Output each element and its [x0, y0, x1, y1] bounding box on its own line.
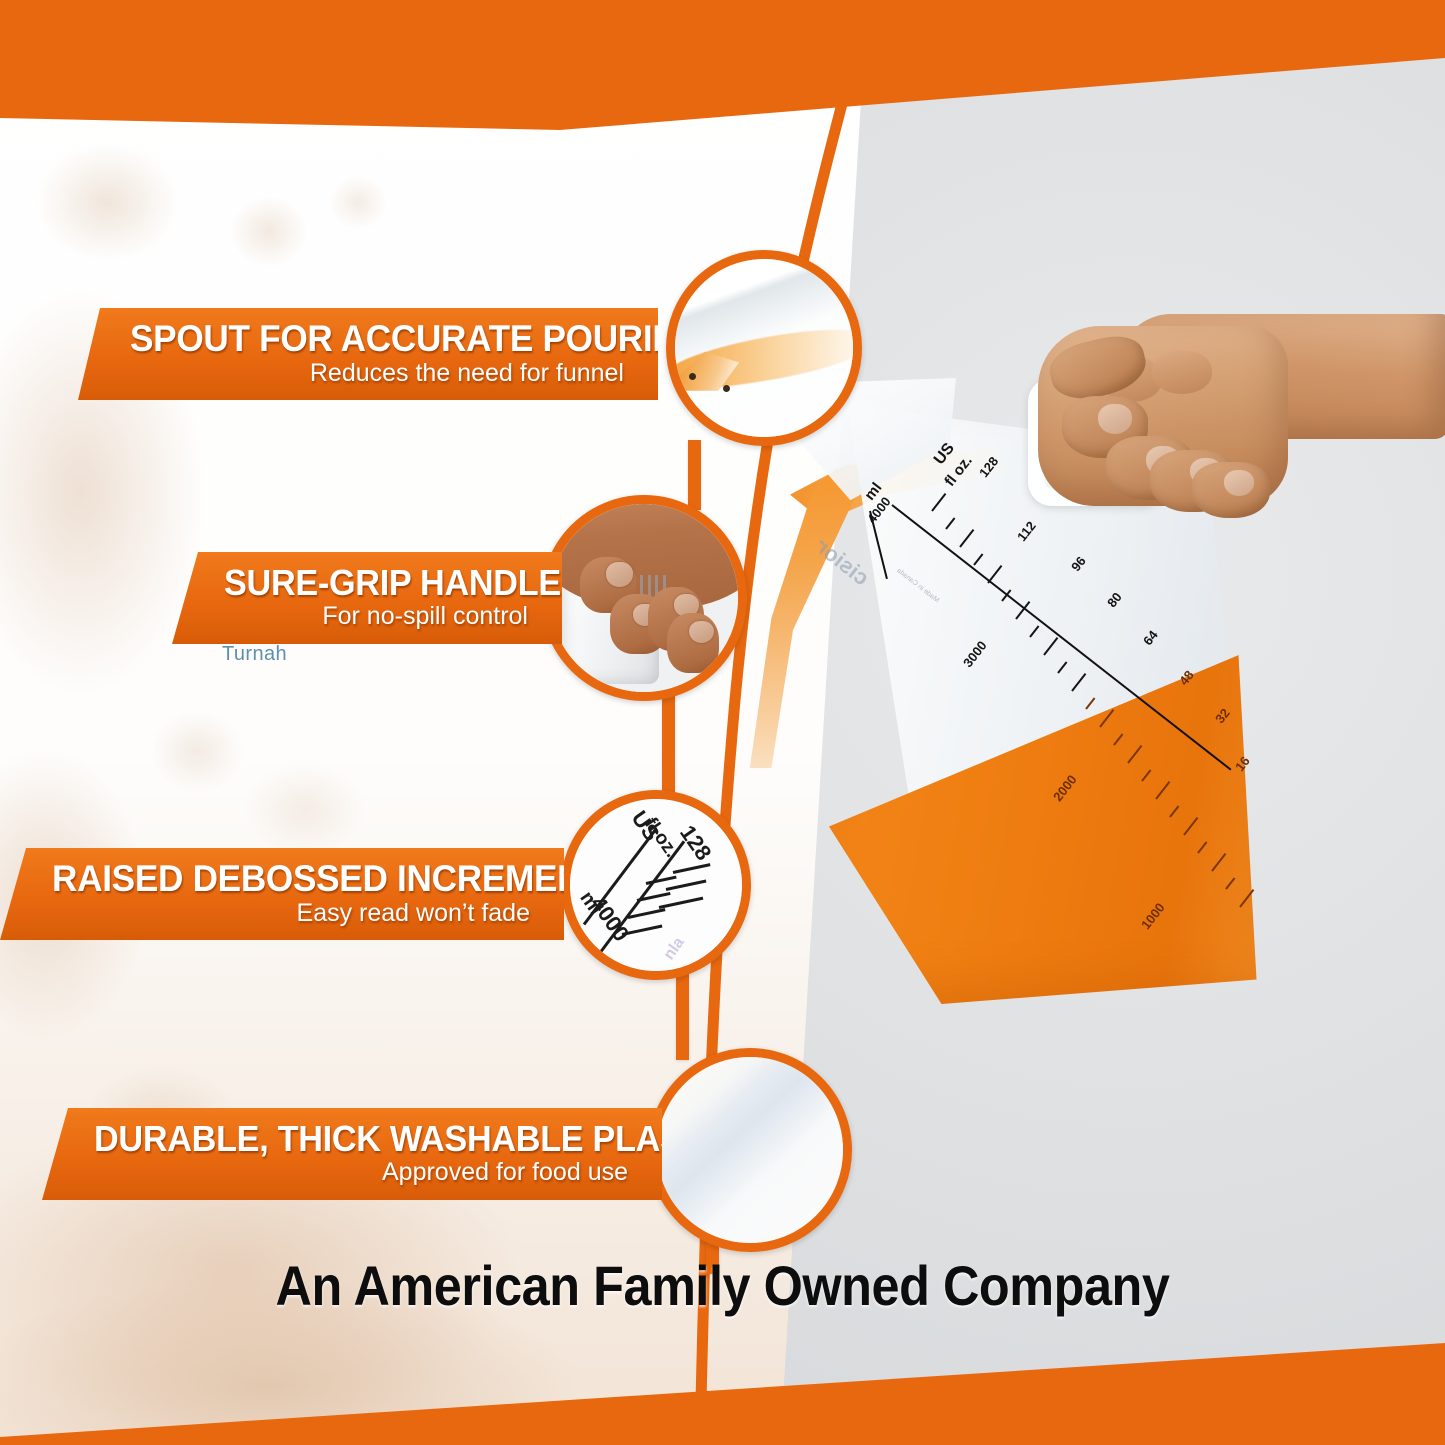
scale-tick-group [1169, 805, 1179, 817]
knuckle-2 [1152, 350, 1212, 394]
connector-2-3 [662, 690, 675, 802]
scale-value-32: 32 [1212, 705, 1233, 726]
feature-subtitle-spout: Reduces the need for funnel [130, 360, 624, 386]
scale-tick-group [1225, 877, 1235, 889]
hand-grip-closeup-icon [550, 504, 738, 692]
watermark-text: Turnah [222, 643, 287, 666]
scale-tick-group [1085, 697, 1095, 709]
scale-value-1000: 1000 [1138, 900, 1168, 932]
palm-shape [541, 495, 747, 609]
infographic-canvas: US fl oz. 128 ml 4000 nla SPOUT FOR ACCU… [0, 0, 1445, 1445]
feature-title-handle: SURE-GRIP HANDLE [224, 565, 513, 602]
scale-tick-group [973, 553, 983, 565]
scale-tick-group [1211, 853, 1226, 872]
scale-value-112: 112 [1014, 518, 1039, 544]
index-fingernail [1098, 404, 1132, 434]
scale-tick-group [1057, 661, 1067, 673]
scale-tick-group [987, 565, 1002, 584]
fingernail-1 [606, 562, 632, 586]
feature-banner-handle[interactable]: SURE-GRIP HANDLE For no-spill control [172, 552, 562, 644]
spout-closeup-icon [675, 259, 853, 437]
scale-tick-group [1043, 637, 1058, 656]
callout-circle-increments: US fl oz. 128 ml 4000 nla [561, 790, 751, 980]
callout-circle-plastic [648, 1048, 852, 1252]
scale-tick-6 [666, 880, 707, 892]
scale-tick-group [1127, 745, 1142, 764]
scale-value-128: 128 [976, 454, 1001, 480]
scale-value-16: 16 [1232, 753, 1253, 774]
scale-tick-5 [659, 896, 703, 908]
scale-tick-7 [673, 863, 711, 874]
scale-tick-group [945, 517, 955, 529]
scale-label-128: 128 [674, 820, 716, 865]
scale-tick-group [1197, 841, 1207, 853]
scale-tick-group [959, 529, 974, 548]
scale-tick-group [931, 493, 946, 512]
pinky-fingernail [1224, 470, 1254, 496]
scale-tick-group [1029, 625, 1039, 637]
scale-tick-group [1071, 673, 1086, 692]
scale-value-80: 80 [1104, 589, 1125, 610]
feature-subtitle-plastic: Approved for food use [94, 1159, 628, 1185]
feature-title-spout: SPOUT FOR ACCURATE POURING [130, 320, 599, 358]
scale-tick-group [1141, 769, 1151, 781]
scale-tick-group [1239, 889, 1254, 908]
product-photo: US fl oz. ml 4000 3000 2000 1000 128 112… [800, 300, 1445, 1040]
scale-tick-group [1099, 709, 1114, 728]
callout-circle-spout [666, 250, 862, 446]
fingernail-4 [689, 621, 713, 644]
scale-value-48: 48 [1176, 667, 1197, 688]
feature-banner-plastic[interactable]: DURABLE, THICK WASHABLE PLASTIC Approved… [42, 1108, 662, 1200]
callout-circle-handle [541, 495, 747, 701]
spout-drop-2 [723, 385, 730, 392]
scale-tick-group [1113, 733, 1123, 745]
scale-ghost-brand: nla [660, 934, 688, 963]
bottom-tagline: An American Family Owned Company [72, 1253, 1373, 1318]
measurement-scale-closeup-icon: US fl oz. 128 ml 4000 nla [570, 799, 742, 971]
pitcher-fine-print: Made in Canada [895, 567, 940, 604]
plastic-wall-closeup-icon [648, 1048, 852, 1252]
scale-value-96: 96 [1068, 553, 1089, 574]
connector-3-4 [676, 968, 689, 1060]
scale-value-64: 64 [1140, 627, 1161, 648]
feature-subtitle-increments: Easy read won’t fade [52, 900, 530, 926]
scale-axis-oz [891, 504, 1231, 770]
feature-banner-spout[interactable]: SPOUT FOR ACCURATE POURING Reduces the n… [78, 308, 658, 400]
scale-value-2000: 2000 [1050, 772, 1080, 804]
scale-value-3000: 3000 [960, 638, 990, 670]
feature-banner-increments[interactable]: RAISED DEBOSSED INCREMENTS Easy read won… [0, 848, 564, 940]
scale-tick-4 [645, 875, 676, 884]
feature-title-plastic: DURABLE, THICK WASHABLE PLASTIC [94, 1121, 601, 1158]
feature-title-increments: RAISED DEBOSSED INCREMENTS [52, 860, 506, 898]
connector-1-2 [688, 440, 701, 510]
feature-subtitle-handle: For no-spill control [224, 603, 528, 629]
scale-tick-group [1155, 781, 1170, 800]
scale-tick-group [1183, 817, 1198, 836]
